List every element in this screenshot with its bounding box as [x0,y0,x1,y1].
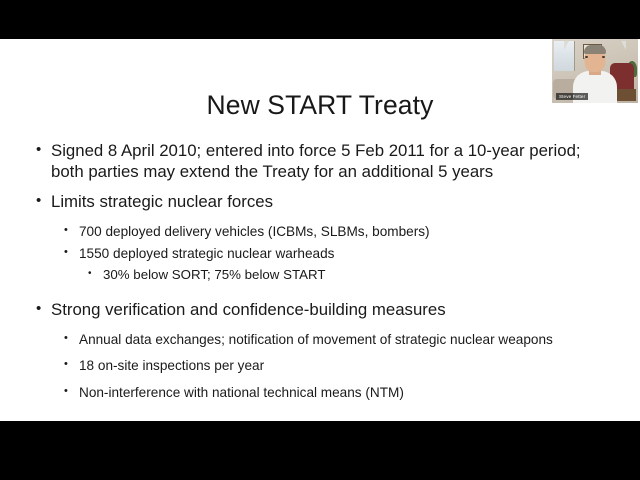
webcam-person-collar-right [621,41,626,50]
list-item: • Annual data exchanges; notification of… [61,329,612,351]
list-item-text: Annual data exchanges; notification of m… [79,332,553,347]
slide-body: • Signed 8 April 2010; entered into forc… [34,140,612,403]
list-item-text: 700 deployed delivery vehicles (ICBMs, S… [79,224,430,239]
page-title: New START Treaty [0,90,640,121]
bullet-marker-icon: • [88,263,92,285]
list-item-text: Signed 8 April 2010; entered into force … [51,141,581,181]
list-item: • Non-interference with national technic… [61,382,612,404]
bullet-marker-icon: • [64,381,68,403]
list-item: • Signed 8 April 2010; entered into forc… [34,140,612,182]
list-item: • 30% below SORT; 75% below START [86,264,612,286]
bullet-marker-icon: • [36,190,41,211]
list-item-text: 1550 deployed strategic nuclear warheads [79,246,334,261]
webcam-person-eye-left [585,56,588,58]
bullet-marker-icon: • [64,220,68,242]
list-item: • Strong verification and confidence-bui… [34,299,612,320]
bullet-list-level-1: • Signed 8 April 2010; entered into forc… [34,140,612,403]
list-item: • 700 deployed delivery vehicles (ICBMs,… [61,221,612,243]
bullet-marker-icon: • [36,298,41,319]
webcam-person-collar-left [564,41,569,50]
bullet-marker-icon: • [64,242,68,264]
bullet-marker-icon: • [64,328,68,350]
list-item-text: 18 on-site inspections per year [79,358,264,373]
webcam-participant-name: Steve Fetter [556,93,588,100]
bullet-marker-icon: • [36,139,41,160]
bullet-list-level-3: • 30% below SORT; 75% below START [34,264,612,286]
webcam-person-eye-right [602,56,605,58]
list-item-text: Non-interference with national technical… [79,385,404,400]
list-item: • Limits strategic nuclear forces [34,191,612,212]
screen-recording-frame: New START Treaty • Signed 8 April 2010; … [0,0,640,480]
list-item-text: Strong verification and confidence-build… [51,300,446,319]
webcam-person-hair [584,45,606,54]
webcam-video-overlay[interactable]: Steve Fetter [552,39,638,103]
bullet-marker-icon: • [64,354,68,376]
list-item: • 18 on-site inspections per year [61,355,612,377]
presentation-slide: New START Treaty • Signed 8 April 2010; … [0,39,640,421]
list-item-text: Limits strategic nuclear forces [51,192,273,211]
bullet-list-level-2: • Annual data exchanges; notification of… [34,329,612,404]
list-item-text: 30% below SORT; 75% below START [103,267,325,282]
list-item: • 1550 deployed strategic nuclear warhea… [61,243,612,265]
bullet-list-level-2: • 700 deployed delivery vehicles (ICBMs,… [34,221,612,286]
